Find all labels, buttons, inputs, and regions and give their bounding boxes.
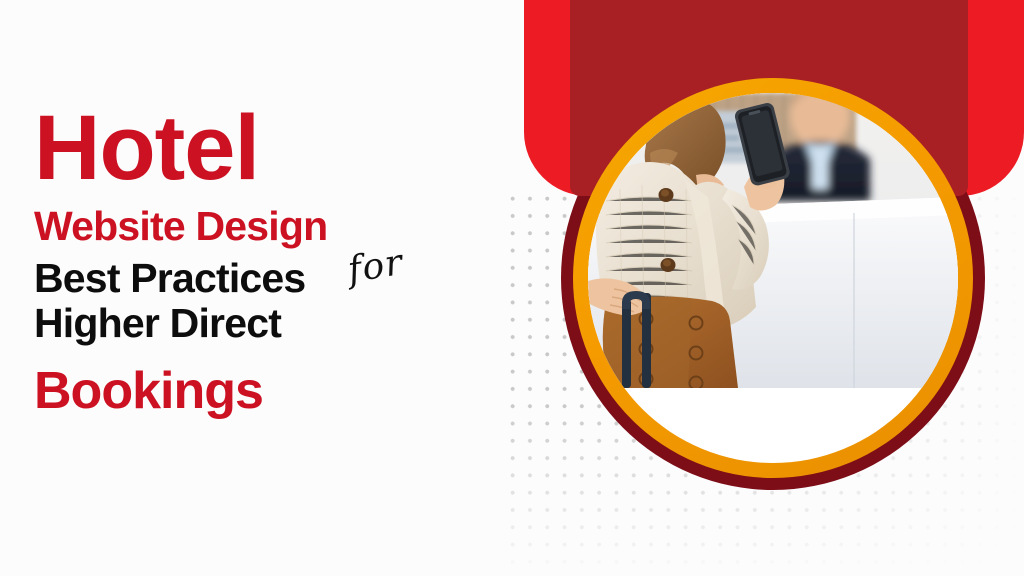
- headline-line-website-design: Website Design: [34, 206, 454, 248]
- photo-illustration: [588, 93, 958, 388]
- headline-line-higher-direct: Higher Direct: [34, 302, 454, 345]
- headline-block: Hotel Website Design Best Practices for …: [34, 104, 454, 417]
- headline-line-hotel: Hotel: [34, 104, 454, 192]
- headline-line-best-practices: Best Practices: [34, 255, 305, 301]
- hotel-guest-checking-in-photo: [588, 93, 958, 463]
- photo-scene: [588, 93, 958, 388]
- hotel-web-design-banner: Hotel Website Design Best Practices for …: [0, 0, 1024, 576]
- headline-script-for: for: [345, 244, 406, 290]
- headline-line-best-practices-row: Best Practices for: [34, 257, 454, 300]
- headline-line-bookings: Bookings: [34, 365, 454, 417]
